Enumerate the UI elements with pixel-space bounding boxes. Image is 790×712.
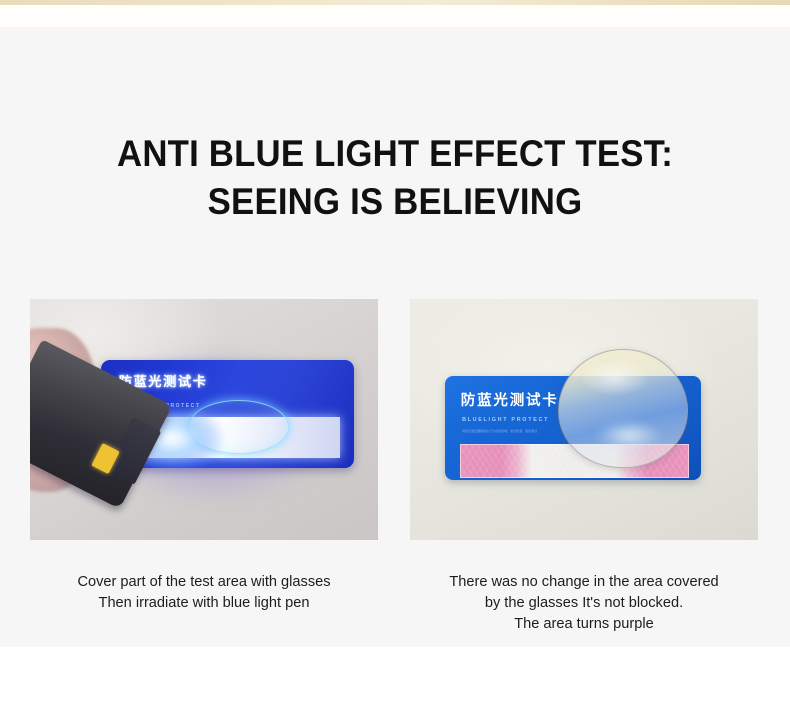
caption-left-line-1: Cover part of the test area with glasses [30,572,378,593]
page-title-line-2: SEEING IS BELIEVING [24,178,767,226]
comparison-panels: 防蓝光测试卡 BLUELIGHT PROTECT 将蓝光发生器照射在下方白色区域… [30,299,758,540]
caption-left-line-2: Then irradiate with blue light pen [30,593,378,614]
bottom-white-area [0,647,790,712]
caption-right: There was no change in the area covered … [410,572,758,635]
caption-right-line-1: There was no change in the area covered [410,572,758,593]
test-card-subtitle-right: BLUELIGHT PROTECT [462,417,549,423]
photo-blue-light-pen-on-test-card: 防蓝光测试卡 BLUELIGHT PROTECT 将蓝光发生器照射在下方白色区域… [30,299,378,540]
top-white-band [0,5,790,27]
page-title-line-1: ANTI BLUE LIGHT EFFECT TEST: [24,130,767,178]
caption-left: Cover part of the test area with glasses… [30,572,378,614]
panel-left-photo: 防蓝光测试卡 BLUELIGHT PROTECT 将蓝光发生器照射在下方白色区域… [30,299,378,540]
caption-right-line-2: by the glasses It's not blocked. [410,593,758,614]
caption-right-line-3: The area turns purple [410,614,758,635]
panel-right-photo: 防蓝光测试卡 BLUELIGHT PROTECT 将蓝光发生器照射在下方白色区域… [410,299,758,540]
page-title: ANTI BLUE LIGHT EFFECT TEST: SEEING IS B… [24,130,767,226]
eyeglass-lens [558,349,689,468]
lens-shine [582,361,664,403]
content-section: ANTI BLUE LIGHT EFFECT TEST: SEEING IS B… [0,27,790,647]
test-card-fineprint-right: 将蓝光发生器照射在下方白色区域，蓝光检测，变色测试 [462,429,554,433]
photo-lens-on-test-card-result: 防蓝光测试卡 BLUELIGHT PROTECT 将蓝光发生器照射在下方白色区域… [410,299,758,540]
test-card-title-right: 防蓝光测试卡 [461,389,559,410]
